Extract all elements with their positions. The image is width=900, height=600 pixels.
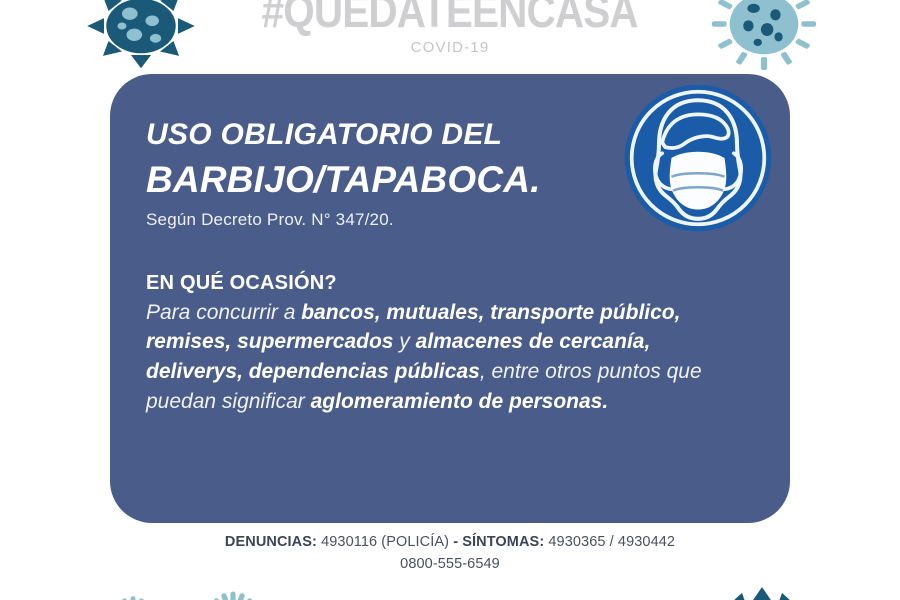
mandatory-mask-pictogram-icon — [620, 80, 776, 236]
denuncias-value: 4930116 (POLICÍA) — [317, 534, 453, 550]
footer-separator: - — [453, 534, 462, 550]
virus-bottom-left-icon — [196, 575, 270, 600]
footer-contacts: DENUNCIAS: 4930116 (POLICÍA) - SÍNTOMAS:… — [0, 531, 900, 576]
body-paragraph: Para concurrir a bancos, mutuales, trans… — [146, 298, 702, 417]
body-segment-2: y — [393, 330, 415, 353]
sintomas-value: 4930365 / 4930442 — [544, 534, 675, 550]
poster-root: #QUEDATEENCASA COVID-19 USO OBLIGATORIO … — [0, 0, 900, 600]
hashtag-quedateencasa: #QUEDATEENCASA — [262, 0, 638, 34]
sintomas-label: SÍNTOMAS: — [462, 534, 544, 550]
question-heading: EN QUÉ OCASIÓN? — [146, 272, 756, 295]
covid19-subtitle: COVID-19 — [0, 39, 900, 56]
denuncias-label: DENUNCIAS: — [225, 534, 317, 550]
header: #QUEDATEENCASA COVID-19 — [0, 0, 900, 56]
announcement-card: USO OBLIGATORIO DEL BARBIJO/TAPABOCA. Se… — [110, 74, 790, 523]
virus-bottom-left-small-icon — [103, 580, 163, 600]
body-segment-5: aglomeramiento de personas. — [311, 390, 609, 413]
body-segment-0: Para concurrir a — [146, 301, 301, 324]
footer-line-1: DENUNCIAS: 4930116 (POLICÍA) - SÍNTOMAS:… — [0, 531, 900, 553]
virus-bottom-right-icon — [718, 572, 806, 600]
